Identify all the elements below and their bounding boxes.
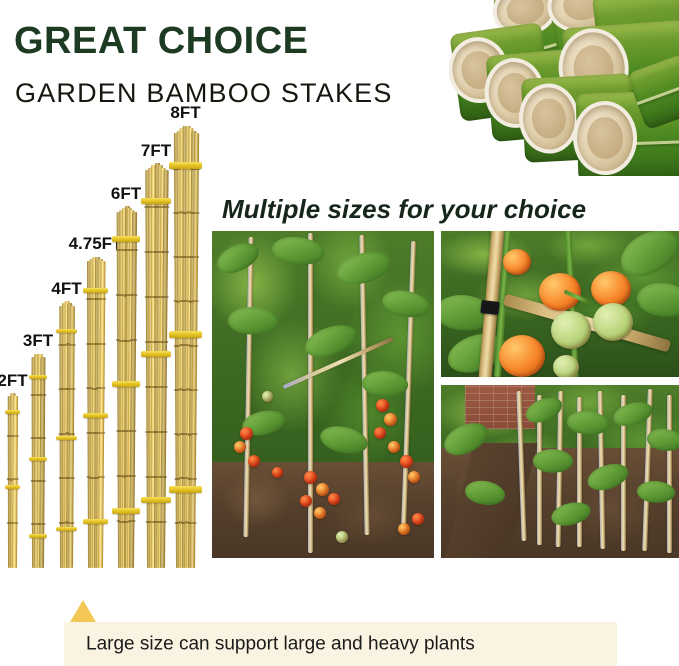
stake-tie-band [141,198,171,204]
collage-title: Multiple sizes for your choice [222,196,586,222]
stake-tie-band [29,375,47,379]
stake-size-label: 3FT [23,332,53,349]
banner-arrow-icon [70,600,96,622]
stake-tie-band [141,497,171,503]
stake-tie-band [29,457,47,461]
stake-tie-band [83,413,108,418]
stake-tie-band [83,288,108,293]
stake-tie-band [56,527,77,531]
stake-tie-band [5,410,20,414]
stake-tie-band [141,351,171,357]
stake-size-label: 2FT [0,372,28,389]
stake-bundle: 7FT [142,163,170,568]
photo-cherry-tomato-garden [212,231,434,558]
stake-tie-band [5,485,20,489]
photo-tomato-closeup [441,231,679,377]
banner-text: Large size can support large and heavy p… [86,635,475,654]
stake-tie-band [29,534,47,538]
stake-size-label: 6FT [111,185,141,202]
stake-tie-band [112,381,140,387]
stake-tie-band [56,329,77,333]
stake-bundle: 2FT [6,393,19,568]
page-subtitle: GARDEN BAMBOO STAKES [15,80,393,107]
stake-tie-band [169,162,202,169]
bottom-banner: Large size can support large and heavy p… [64,622,617,666]
stake-bundle: 3FT [30,353,46,568]
stake-tie-band [169,486,202,493]
stake-bundle: 4FT [57,301,76,568]
stake-tie-band [112,508,140,514]
stake-bundle: 6FT [113,206,139,568]
stake-tie-band [169,331,202,338]
page-title: GREAT CHOICE [14,22,309,60]
stake-size-label: 8FT [170,104,200,121]
product-infographic: GREAT CHOICE GARDEN BAMBOO STAKES [0,0,679,666]
stake-size-label: 4FT [51,280,81,297]
stake-tie-band [83,519,108,524]
stake-tie-band [56,436,77,440]
stake-bundle: 4.75FT [84,256,107,568]
stake-tie-band [112,236,140,242]
bamboo-canes [170,125,201,568]
stake-size-label: 7FT [141,142,171,159]
stake-size-chart: 2FT3FT4FT4.75FT6FT7FT8FT [0,118,206,568]
cut-bamboo-poles-photo [449,0,679,176]
photo-bean-rows [441,385,679,558]
cane-clip [480,300,499,315]
bamboo-canes [6,393,19,568]
stake-bundle: 8FT [170,125,201,568]
bamboo-canes [142,163,170,568]
